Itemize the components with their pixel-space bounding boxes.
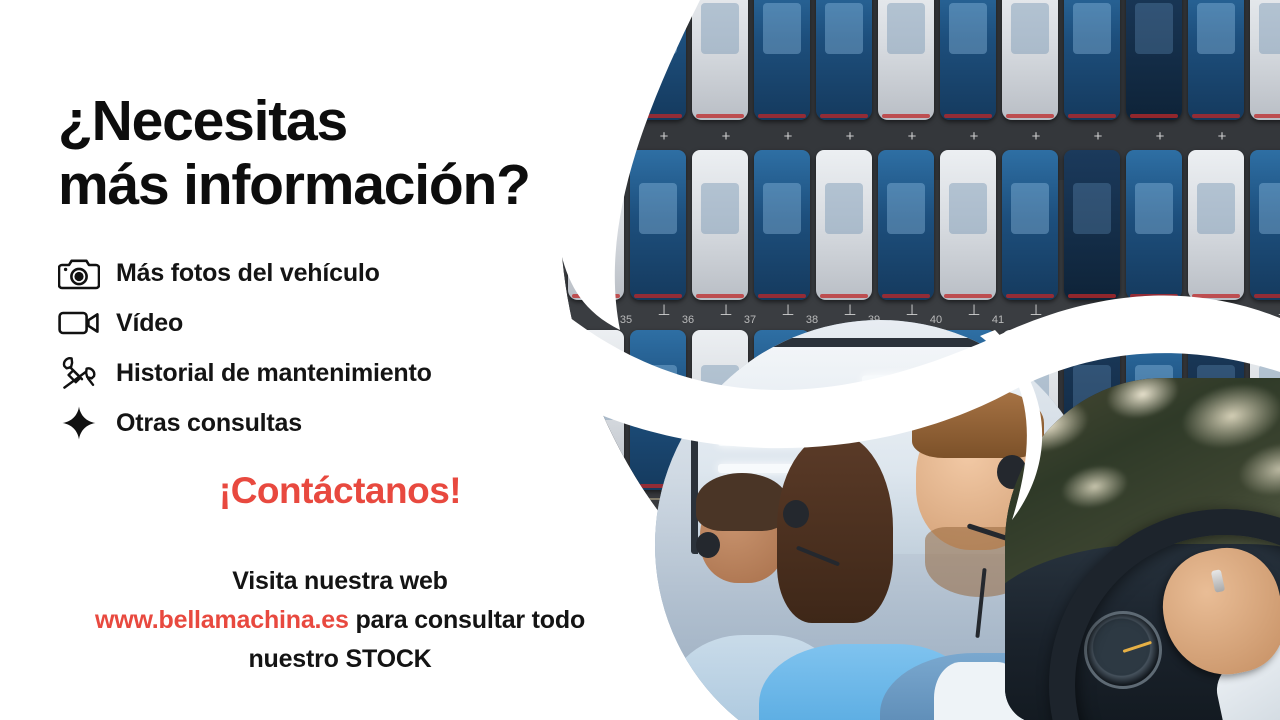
car — [754, 330, 810, 490]
dashboard — [1005, 544, 1280, 720]
agent-front-body — [880, 653, 1105, 720]
car — [692, 330, 748, 490]
agent-front-beard — [925, 527, 1037, 597]
driver-steering-wheel-photo — [1005, 378, 1280, 720]
agent-back-head — [700, 491, 786, 583]
car — [754, 0, 810, 120]
parking-marker: ⊥ — [760, 302, 816, 320]
wedding-ring — [1211, 569, 1225, 593]
space-number: 38 — [784, 312, 840, 328]
office-window — [691, 338, 1029, 554]
space-number: 39 — [846, 312, 902, 328]
steering-wheel — [1049, 509, 1280, 720]
car — [816, 0, 872, 120]
parking-marker: + — [1194, 128, 1250, 146]
car — [1002, 0, 1058, 120]
space-number: 44 — [1156, 312, 1212, 328]
parking-marker: ⊥ — [1194, 302, 1250, 320]
web-line-1: Visita nuestra web — [0, 562, 680, 601]
car — [1250, 150, 1280, 300]
car — [1188, 150, 1244, 300]
shirt-sleeve — [1210, 632, 1280, 720]
van — [848, 520, 930, 616]
agent-front-hair — [912, 388, 1044, 458]
parking-marker: ⊥ — [698, 302, 754, 320]
speedometer-needle — [1123, 640, 1152, 652]
parking-marker: + — [1256, 128, 1280, 146]
car — [816, 150, 872, 300]
feature-item-more-photos: Más fotos del vehículo — [56, 248, 656, 298]
feature-label: Vídeo — [116, 309, 183, 338]
parking-marker: + — [698, 128, 754, 146]
car — [1064, 330, 1120, 490]
car — [940, 150, 996, 300]
feature-item-video: Vídeo — [56, 298, 656, 348]
car — [878, 0, 934, 120]
web-info: Visita nuestra web www.bellamachina.es p… — [0, 562, 680, 678]
driver-hand — [1152, 538, 1280, 686]
page-title: ¿Necesitas más información? — [58, 90, 678, 218]
feature-label: Historial de mantenimiento — [116, 359, 432, 388]
parking-marker: ⊥ — [1132, 302, 1188, 320]
space-number: 40 — [908, 312, 964, 328]
headset-icon — [997, 455, 1027, 489]
headset-mic — [966, 523, 1023, 546]
space-number: 45 — [1218, 312, 1274, 328]
space-number: 43 — [1094, 312, 1150, 328]
parking-marker: ⊥ — [1256, 302, 1280, 320]
agent-front-head — [916, 410, 1040, 550]
car — [940, 330, 996, 490]
car — [692, 150, 748, 300]
car — [940, 0, 996, 120]
promo-poster: + + + + + + + + + + + + + + + + — [0, 0, 1280, 720]
speedometer — [1084, 611, 1162, 689]
parking-marker: + — [1070, 128, 1126, 146]
headset-mic — [795, 546, 839, 567]
parking-marker: + — [946, 128, 1002, 146]
cta-contact[interactable]: ¡Contáctanos! — [0, 470, 680, 512]
parking-marker: ⊥ — [946, 302, 1002, 320]
car — [1126, 330, 1182, 490]
ceiling-light — [718, 464, 868, 473]
agent-middle-body — [759, 644, 974, 720]
car — [878, 150, 934, 300]
car — [1250, 330, 1280, 490]
ceiling-light — [862, 372, 958, 384]
call-center-photo — [655, 320, 1105, 720]
ceiling-light — [718, 437, 838, 446]
headset-cable — [975, 567, 986, 637]
parking-marker: + — [760, 128, 816, 146]
car — [1250, 0, 1280, 120]
video-icon — [56, 304, 102, 342]
parking-marker: + — [884, 128, 940, 146]
car — [1064, 150, 1120, 300]
car — [754, 150, 810, 300]
sparkle-icon — [56, 404, 102, 442]
car — [816, 330, 872, 490]
office-background — [655, 320, 1105, 720]
feature-item-maintenance: Historial de mantenimiento — [56, 348, 656, 398]
parking-marker: ⊥ — [1070, 302, 1126, 320]
parking-marker: + — [822, 128, 878, 146]
agent-middle-hair — [777, 433, 893, 623]
agent-middle-head — [790, 455, 882, 555]
space-number: 37 — [722, 312, 778, 328]
web-line-3: nuestro STOCK — [0, 640, 680, 679]
agent-back-hair — [696, 473, 788, 531]
agent-back-body — [669, 635, 839, 720]
van — [738, 520, 820, 616]
headset-icon — [696, 532, 720, 558]
a-pillar — [1267, 390, 1280, 642]
parking-marker: + — [1132, 128, 1188, 146]
camera-icon — [56, 254, 102, 292]
parking-marker: + — [1008, 128, 1064, 146]
tools-icon — [56, 354, 102, 392]
parking-marker: ⊥ — [1008, 302, 1064, 320]
parking-marker: ⊥ — [884, 302, 940, 320]
car — [1002, 150, 1058, 300]
car — [1064, 0, 1120, 120]
text-content: ¿Necesitas más información? Más fotos de… — [0, 0, 680, 720]
headset-icon — [783, 500, 809, 528]
car — [1126, 0, 1182, 120]
web-line-2: www.bellamachina.es para consultar todo — [0, 601, 680, 640]
feature-label: Otras consultas — [116, 409, 302, 438]
website-url[interactable]: www.bellamachina.es — [95, 606, 349, 634]
feature-list: Más fotos del vehículo Vídeo — [56, 248, 656, 448]
parking-marker: ⊥ — [822, 302, 878, 320]
car — [1188, 330, 1244, 490]
windshield-view — [1005, 378, 1280, 592]
feature-label: Más fotos del vehículo — [116, 259, 380, 288]
space-number: 42 — [1032, 312, 1088, 328]
feature-item-other: Otras consultas — [56, 398, 656, 448]
agent-front-shirt — [934, 662, 1024, 720]
car — [692, 0, 748, 120]
car — [1002, 330, 1058, 490]
space-number: 41 — [970, 312, 1026, 328]
car — [1188, 0, 1244, 120]
web-line-2-rest: para consultar todo — [349, 606, 585, 634]
car — [1126, 150, 1182, 300]
car — [878, 330, 934, 490]
